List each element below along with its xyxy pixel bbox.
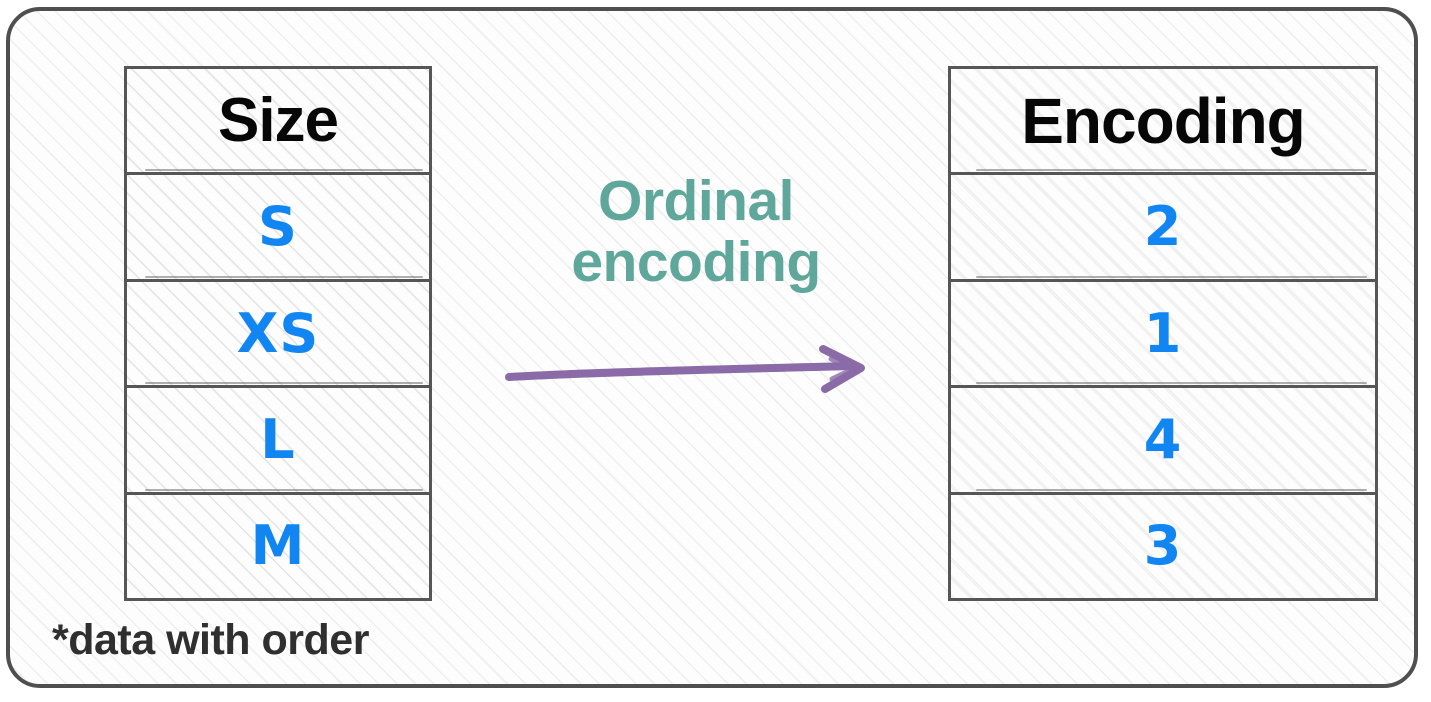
footnote-text: *data with order [52,619,369,662]
table-row: 3 [951,492,1375,598]
encoding-value-cell: 2 [1144,200,1183,254]
size-value-cell: M [251,519,306,573]
transformation-label: Ordinal encoding [476,171,916,293]
size-table: Size S XS L M [124,66,432,601]
encoding-table-header-label: Encoding [1021,89,1305,153]
encoding-value-cell: 3 [1144,519,1183,573]
encoding-value-cell: 4 [1144,413,1183,467]
outer-card: Size S XS L M Ordinal encoding [6,7,1418,688]
right-arrow-icon [505,341,895,403]
table-row: M [127,492,429,598]
encoding-value-cell: 1 [1144,307,1183,361]
encoding-table-header-row: Encoding [951,69,1375,172]
encoding-table: Encoding 2 1 4 3 [948,66,1378,601]
size-table-header-label: Size [218,90,338,152]
table-row: 2 [951,172,1375,278]
size-value-cell: XS [237,307,320,361]
table-row: XS [127,279,429,385]
table-row: L [127,385,429,491]
size-table-header-row: Size [127,69,429,172]
table-row: 1 [951,279,1375,385]
diagram-canvas: Size S XS L M Ordinal encoding [0,0,1431,702]
table-row: S [127,172,429,278]
table-row: 4 [951,385,1375,491]
size-value-cell: S [258,200,298,254]
size-value-cell: L [260,413,295,467]
